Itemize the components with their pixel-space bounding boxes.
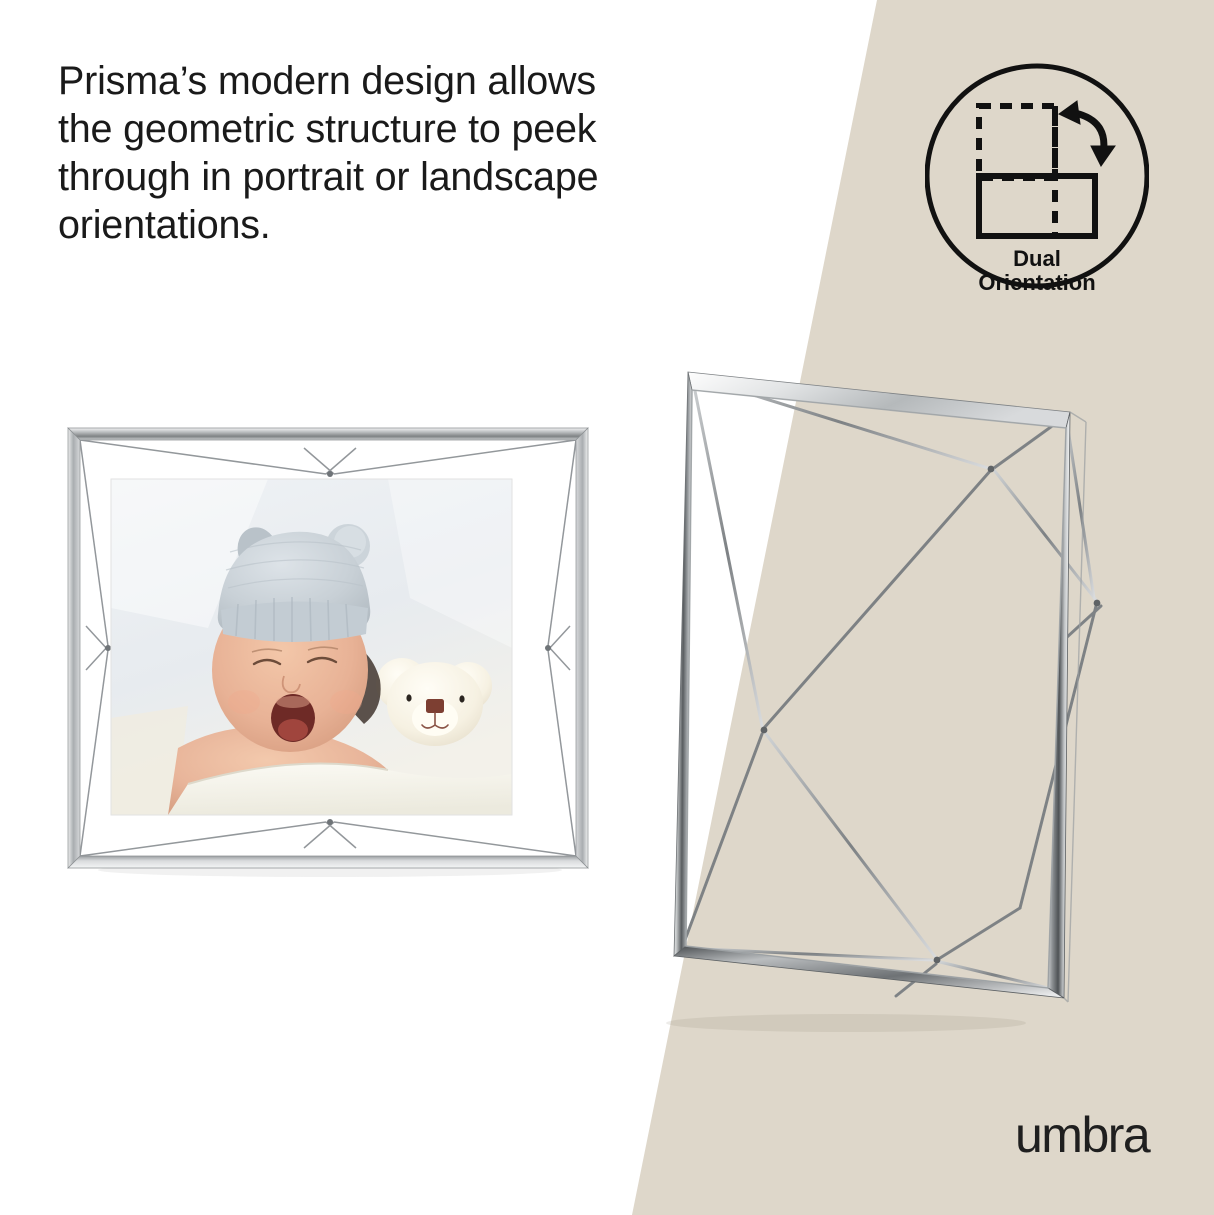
portrait-outline-dashed [979,106,1055,178]
framed-photograph [111,479,512,815]
dual-orientation-badge: Dual Orientation [925,58,1149,308]
umbra-logotype: umbra [1015,1108,1151,1163]
badge-label-line2: Orientation [978,270,1095,295]
brand-wordmark: umbra [1015,1108,1155,1166]
frame-wire-struts [682,376,1101,996]
landscape-outline-solid [979,176,1095,236]
product-frame-landscape [58,418,598,888]
product-frame-portrait [596,348,1136,1048]
product-marketing-image: Prisma’s modern design allows the geomet… [0,0,1214,1215]
badge-label-line1: Dual [1013,246,1061,271]
rotate-arrow-icon [1059,101,1115,166]
page-headline: Prisma’s modern design allows the geomet… [58,57,738,249]
